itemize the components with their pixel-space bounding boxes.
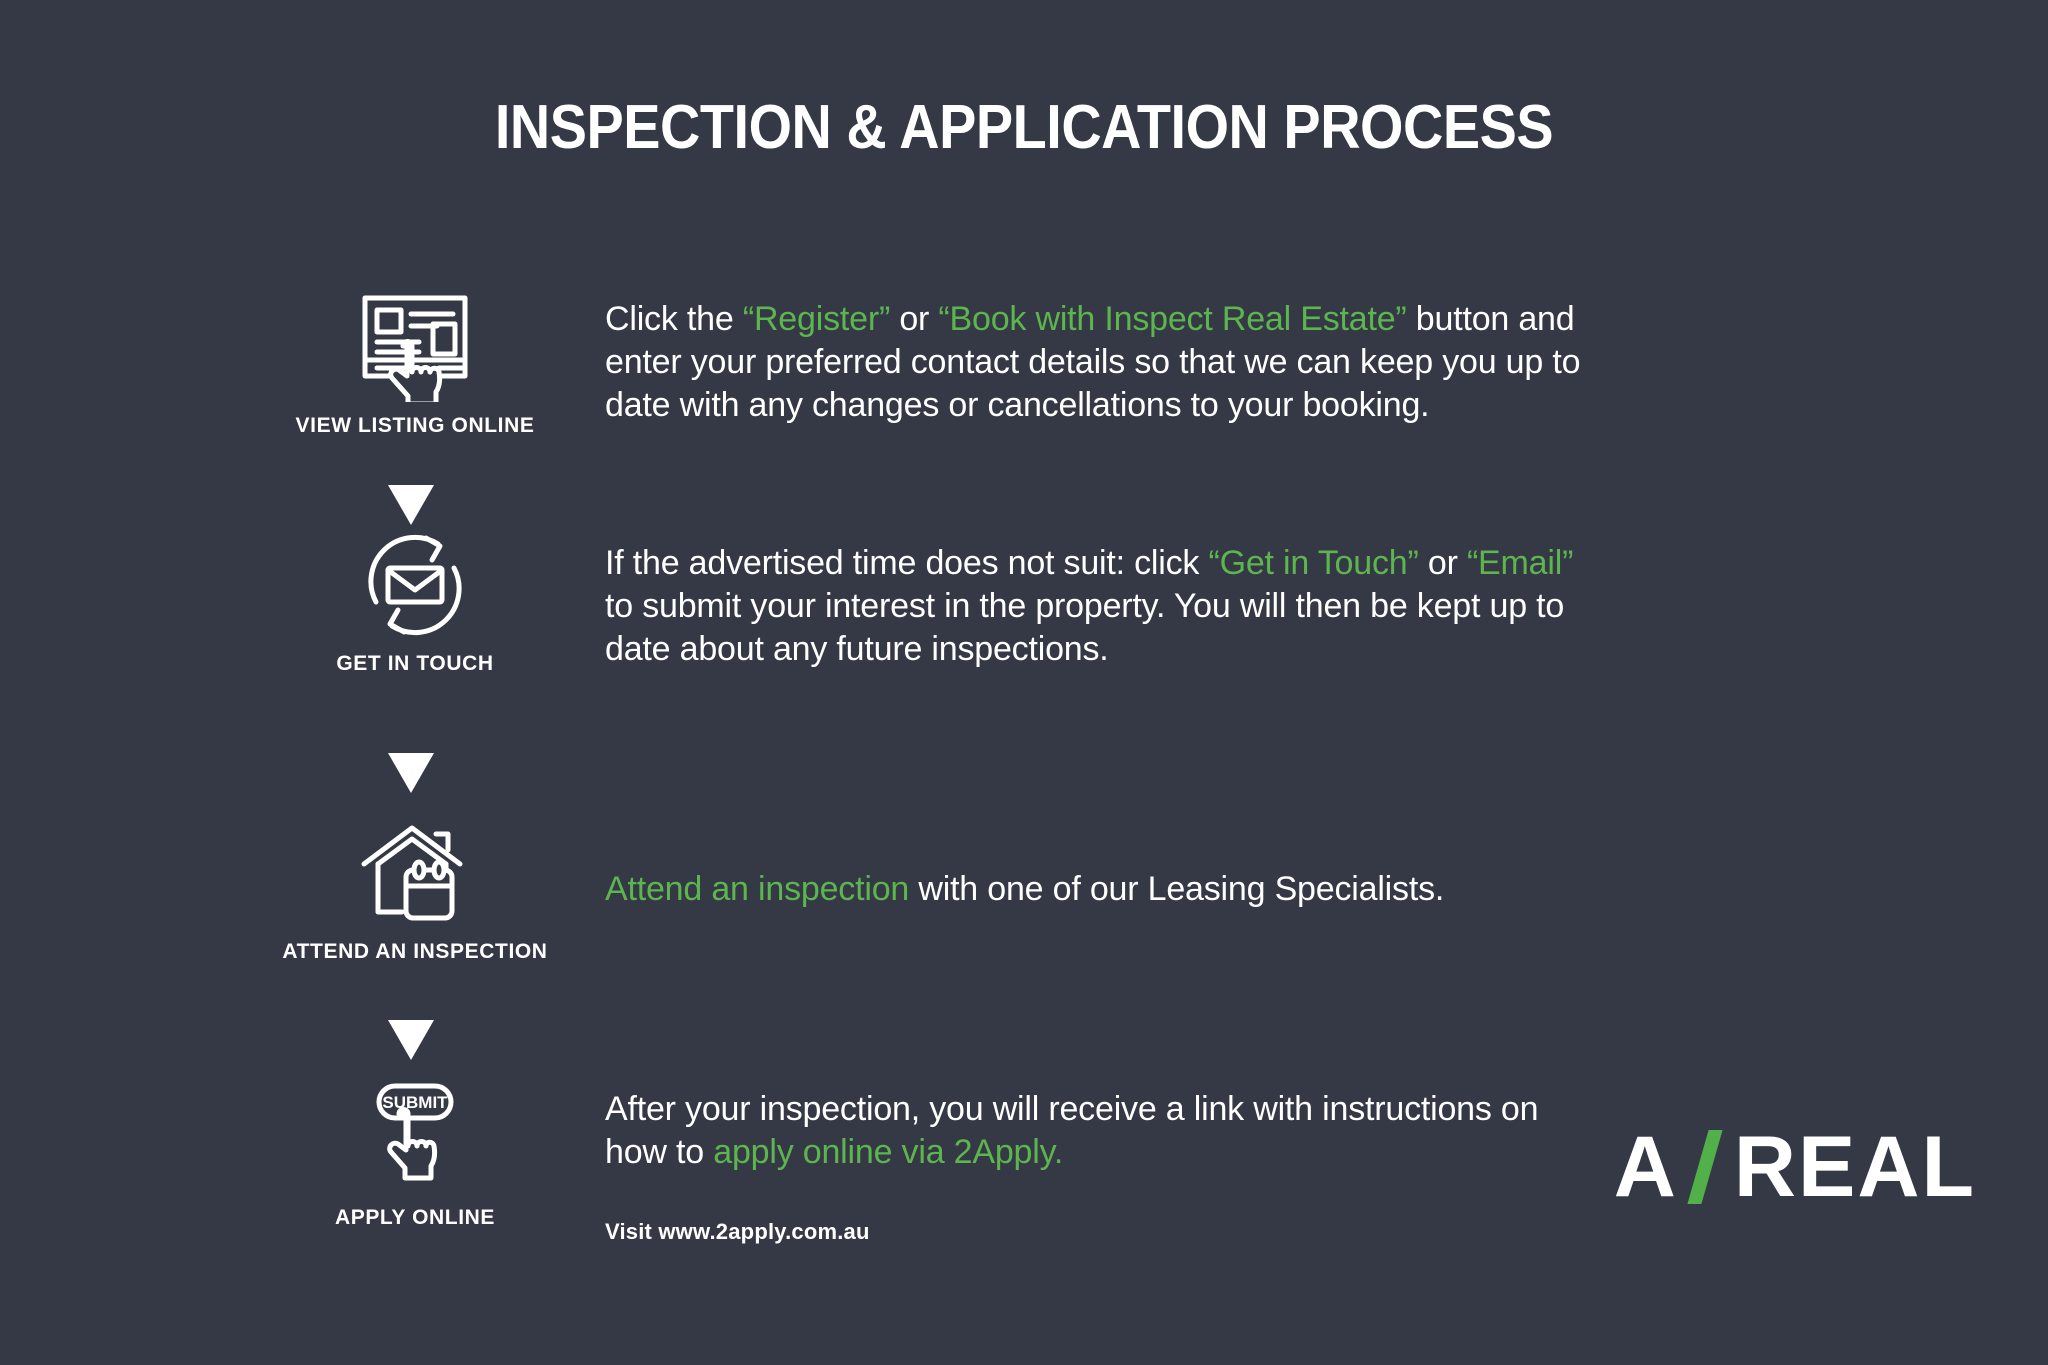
step-3-text-1: with one of our Leasing Specialists. — [909, 870, 1444, 908]
visit-url-note: Visit www.2apply.com.au — [605, 1218, 1605, 1246]
infographic-page: INSPECTION & APPLICATION PROCESS — [0, 0, 2048, 1365]
step-3-text-0: Attend an inspection — [605, 870, 909, 908]
envelope-refresh-icon — [245, 530, 585, 640]
step-3-icon-column: ATTEND AN INSPECTION — [245, 820, 585, 964]
brand-logo: A REAL — [1614, 1124, 1976, 1210]
house-calendar-icon — [245, 820, 585, 928]
logo-left-text: A — [1614, 1124, 1678, 1210]
step-3: ATTEND AN INSPECTION Attend an inspectio… — [0, 820, 2048, 1000]
step-2-label: GET IN TOUCH — [245, 652, 585, 676]
step-2-text-0: If the advertised time does not suit: cl… — [605, 544, 1208, 582]
step-3-label: ATTEND AN INSPECTION — [245, 940, 585, 964]
logo-slash-icon — [1687, 1130, 1722, 1204]
step-4-paragraph: After your inspection, you will receive … — [605, 1088, 1605, 1174]
step-2: GET IN TOUCH If the advertised time does… — [0, 530, 2048, 710]
step-2-text-4: to submit your interest in the property.… — [605, 587, 1564, 668]
step-2-icon-column: GET IN TOUCH — [245, 530, 585, 676]
step-1: VIEW LISTING ONLINE Click the “Register”… — [0, 286, 2048, 466]
submit-button-click-icon: SUBMIT — [245, 1080, 585, 1184]
step-1-text-2: or — [890, 300, 938, 338]
step-3-body: Attend an inspection with one of our Lea… — [605, 868, 1605, 911]
step-2-body: If the advertised time does not suit: cl… — [605, 542, 1605, 672]
step-1-icon-column: VIEW LISTING ONLINE — [245, 286, 585, 438]
step-1-text-0: Click the — [605, 300, 743, 338]
step-4-label: APPLY ONLINE — [245, 1206, 585, 1230]
step-1-label: VIEW LISTING ONLINE — [245, 414, 585, 438]
page-title: INSPECTION & APPLICATION PROCESS — [102, 92, 1945, 163]
submit-icon-label: SUBMIT — [382, 1093, 448, 1112]
step-2-text-3: “Email” — [1467, 544, 1573, 582]
logo-right-text: REAL — [1734, 1124, 1976, 1210]
down-triangle-icon-2 — [388, 753, 434, 793]
step-1-text-1: “Register” — [743, 300, 890, 338]
step-4-body: After your inspection, you will receive … — [605, 1088, 1605, 1246]
down-triangle-icon-1 — [388, 485, 434, 525]
step-2-text-1: “Get in Touch” — [1208, 544, 1418, 582]
step-1-body: Click the “Register” or “Book with Inspe… — [605, 298, 1605, 428]
step-4-text-1: apply online via 2Apply. — [713, 1133, 1063, 1171]
step-4-icon-column: SUBMIT APPLY ONLINE — [245, 1080, 585, 1230]
down-triangle-icon-3 — [388, 1020, 434, 1060]
step-2-text-2: or — [1419, 544, 1467, 582]
listing-page-click-icon — [245, 286, 585, 402]
step-1-text-3: “Book with Inspect Real Estate” — [938, 300, 1406, 338]
